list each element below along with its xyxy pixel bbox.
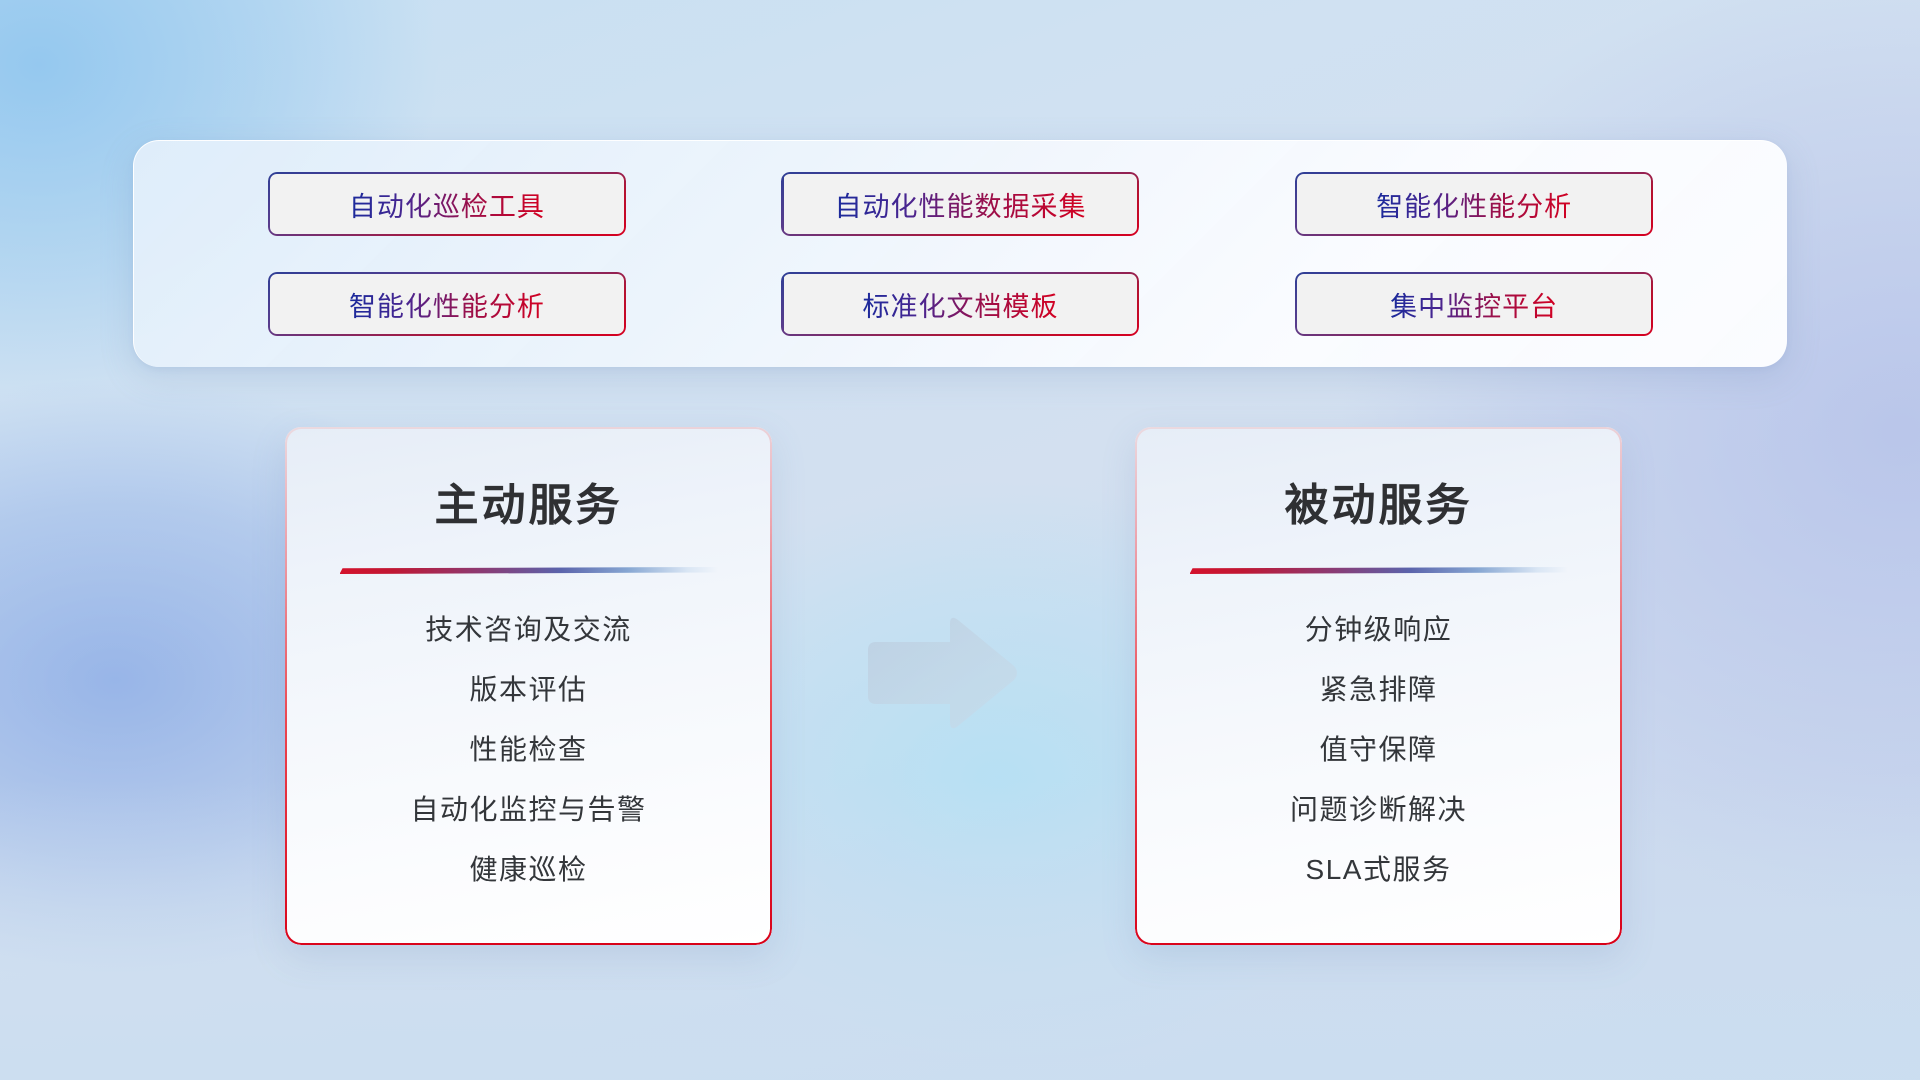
capability-tag-2[interactable]: 智能化性能分析 [1295, 172, 1653, 236]
capability-tag-label: 智能化性能分析 [1376, 185, 1572, 224]
capability-tag-label: 自动化巡检工具 [349, 185, 545, 224]
arrow-right-icon [864, 612, 1020, 734]
list-item: 健康巡检 [285, 840, 772, 900]
card-divider [1190, 567, 1568, 574]
capability-tag-4[interactable]: 标准化文档模板 [781, 272, 1139, 336]
card-title: 被动服务 [1135, 469, 1622, 533]
list-item: 性能检查 [285, 720, 772, 780]
capability-tag-label: 集中监控平台 [1390, 285, 1558, 324]
service-card-proactive[interactable]: 主动服务 技术咨询及交流 版本评估 性能检查 自动化监控与告警 健康巡检 [285, 427, 772, 945]
list-item: 分钟级响应 [1135, 600, 1622, 660]
card-item-list: 分钟级响应 紧急排障 值守保障 问题诊断解决 SLA式服务 [1135, 600, 1622, 900]
capability-tag-label: 标准化文档模板 [862, 285, 1058, 324]
list-item: 问题诊断解决 [1135, 780, 1622, 840]
list-item: SLA式服务 [1135, 840, 1622, 900]
card-divider [340, 567, 718, 574]
slide-canvas: 自动化巡检工具 自动化性能数据采集 智能化性能分析 智能化性能分析 标准化文档模… [0, 0, 1920, 1080]
list-item: 值守保障 [1135, 720, 1622, 780]
capability-tag-0[interactable]: 自动化巡检工具 [268, 172, 626, 236]
card-title: 主动服务 [285, 469, 772, 533]
capability-tag-1[interactable]: 自动化性能数据采集 [781, 172, 1139, 236]
capability-tags-panel: 自动化巡检工具 自动化性能数据采集 智能化性能分析 智能化性能分析 标准化文档模… [133, 140, 1787, 367]
list-item: 紧急排障 [1135, 660, 1622, 720]
list-item: 自动化监控与告警 [285, 780, 772, 840]
capability-tag-label: 自动化性能数据采集 [834, 185, 1086, 224]
card-item-list: 技术咨询及交流 版本评估 性能检查 自动化监控与告警 健康巡检 [285, 600, 772, 900]
capability-tag-5[interactable]: 集中监控平台 [1295, 272, 1653, 336]
list-item: 技术咨询及交流 [285, 600, 772, 660]
capability-tag-3[interactable]: 智能化性能分析 [268, 272, 626, 336]
capability-tag-label: 智能化性能分析 [349, 285, 545, 324]
list-item: 版本评估 [285, 660, 772, 720]
service-card-reactive[interactable]: 被动服务 分钟级响应 紧急排障 值守保障 问题诊断解决 SLA式服务 [1135, 427, 1622, 945]
